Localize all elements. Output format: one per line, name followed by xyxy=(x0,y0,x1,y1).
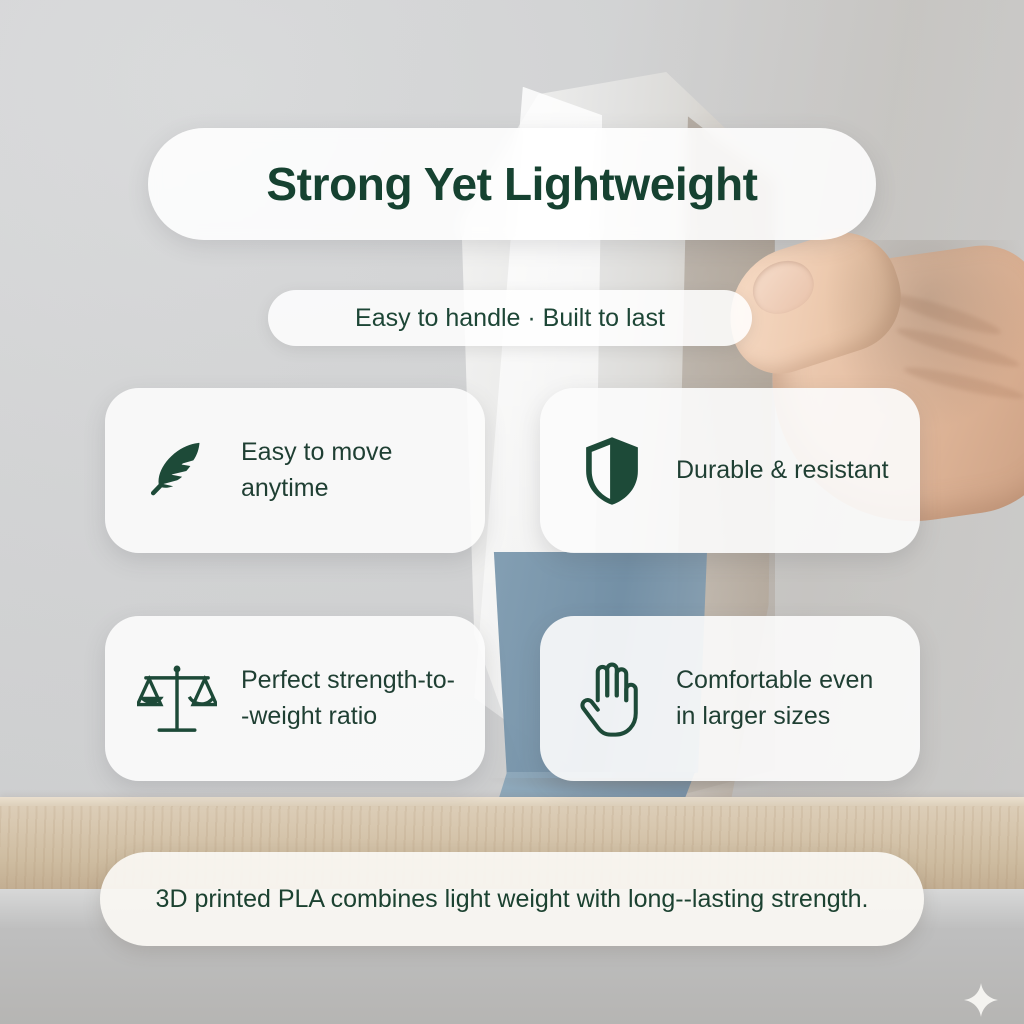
shield-icon xyxy=(570,429,654,513)
feature-label: Perfect strength-to--weight ratio xyxy=(241,663,459,734)
feature-label: Durable & resistant xyxy=(676,453,889,489)
subtitle-pill: Easy to handle · Built to last xyxy=(268,290,752,346)
feather-icon xyxy=(135,429,219,513)
feature-card-durable[interactable]: Durable & resistant xyxy=(540,388,920,553)
feature-card-grid: Easy to move anytime Durable & resistant xyxy=(105,388,920,781)
feature-label: Comfortable even in larger sizes xyxy=(676,663,894,734)
shelf-top-edge xyxy=(0,797,1024,806)
page-subtitle: Easy to handle · Built to last xyxy=(355,304,665,333)
feature-card-comfortable[interactable]: Comfortable even in larger sizes xyxy=(540,616,920,781)
balance-scale-icon xyxy=(135,657,219,741)
title-pill: Strong Yet Lightweight xyxy=(148,128,876,240)
footer-caption: 3D printed PLA combines light weight wit… xyxy=(116,882,909,917)
feature-card-strength-ratio[interactable]: Perfect strength-to--weight ratio xyxy=(105,616,485,781)
footer-caption-pill: 3D printed PLA combines light weight wit… xyxy=(100,852,924,946)
promo-graphic: Strong Yet Lightweight Easy to handle · … xyxy=(0,0,1024,1024)
feature-label: Easy to move anytime xyxy=(241,435,459,506)
sparkle-icon xyxy=(963,982,999,1018)
page-title: Strong Yet Lightweight xyxy=(266,157,757,211)
feature-card-easy-to-move[interactable]: Easy to move anytime xyxy=(105,388,485,553)
open-hand-icon xyxy=(570,657,654,741)
